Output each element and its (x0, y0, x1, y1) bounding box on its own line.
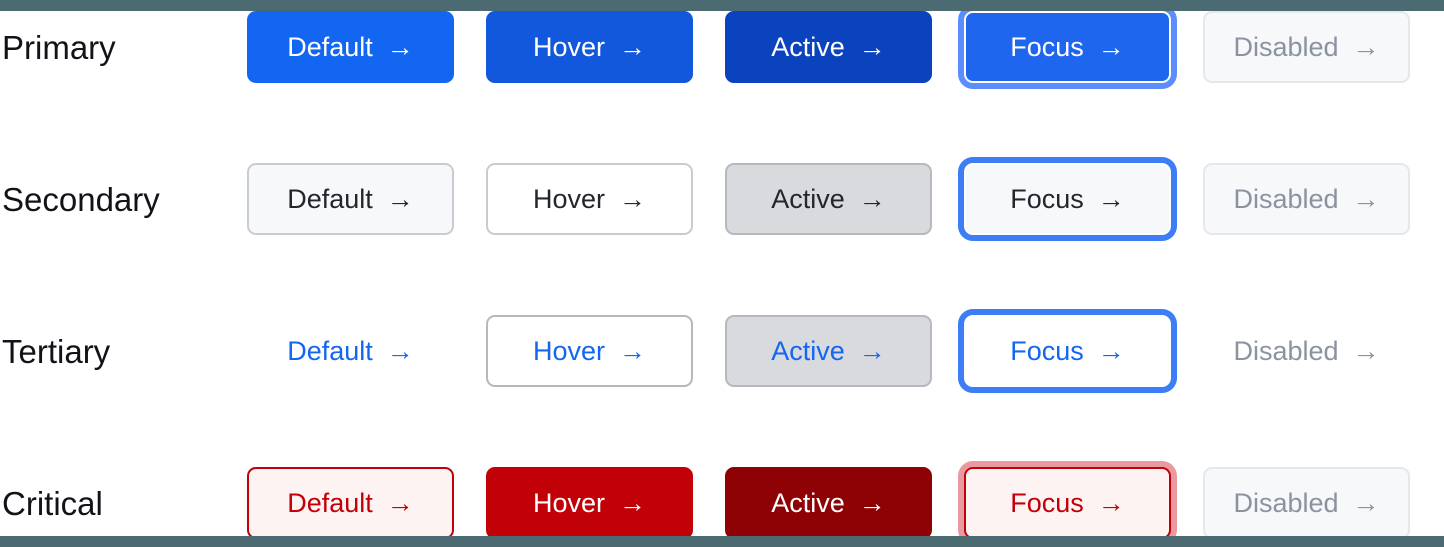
button-label: Default (287, 186, 373, 213)
button-tertiary-default[interactable]: Default → (247, 315, 454, 387)
button-primary-disabled: Disabled → (1203, 11, 1410, 83)
arrow-right-icon: → (859, 490, 886, 517)
button-row-primary: Primary Default → Hover → Active → Focus… (0, 11, 1444, 83)
arrow-right-icon: → (387, 490, 414, 517)
cell-primary-focus: Focus → (964, 11, 1203, 83)
cell-tertiary-disabled: Disabled → (1203, 315, 1442, 387)
button-primary-hover[interactable]: Hover → (486, 11, 693, 83)
cell-critical-focus: Focus → (964, 467, 1203, 539)
row-label-primary: Primary (0, 31, 247, 64)
arrow-right-icon: → (1353, 34, 1380, 61)
cell-critical-disabled: Disabled → (1203, 467, 1442, 539)
cell-critical-active: Active → (725, 467, 964, 539)
cell-tertiary-focus: Focus → (964, 315, 1203, 387)
button-primary-focus[interactable]: Focus → (964, 11, 1171, 83)
cell-critical-default: Default → (247, 467, 486, 539)
button-label: Disabled (1233, 186, 1338, 213)
button-secondary-disabled: Disabled → (1203, 163, 1410, 235)
bottom-edge-bar (0, 536, 1444, 547)
button-label: Focus (1010, 338, 1084, 365)
button-state-matrix: Primary Default → Hover → Active → Focus… (0, 0, 1444, 547)
button-row-secondary: Secondary Default → Hover → Active → Foc… (0, 163, 1444, 235)
button-row-tertiary: Tertiary Default → Hover → Active → Focu… (0, 315, 1444, 387)
button-tertiary-disabled: Disabled → (1203, 315, 1410, 387)
button-label: Hover (533, 338, 605, 365)
button-critical-hover[interactable]: Hover → (486, 467, 693, 539)
row-label-tertiary: Tertiary (0, 335, 247, 368)
arrow-right-icon: → (859, 34, 886, 61)
button-label: Focus (1010, 490, 1084, 517)
arrow-right-icon: → (1353, 490, 1380, 517)
top-edge-bar (0, 0, 1444, 11)
button-label: Disabled (1233, 34, 1338, 61)
arrow-right-icon: → (387, 338, 414, 365)
row-label-critical: Critical (0, 487, 247, 520)
button-label: Default (287, 338, 373, 365)
button-label: Disabled (1233, 490, 1338, 517)
cell-secondary-focus: Focus → (964, 163, 1203, 235)
button-label: Focus (1010, 186, 1084, 213)
cell-primary-hover: Hover → (486, 11, 725, 83)
arrow-right-icon: → (387, 186, 414, 213)
arrow-right-icon: → (859, 338, 886, 365)
button-label: Hover (533, 34, 605, 61)
row-label-secondary: Secondary (0, 183, 247, 216)
arrow-right-icon: → (387, 34, 414, 61)
cell-tertiary-hover: Hover → (486, 315, 725, 387)
cell-tertiary-active: Active → (725, 315, 964, 387)
button-label: Hover (533, 186, 605, 213)
button-critical-default[interactable]: Default → (247, 467, 454, 539)
cell-secondary-default: Default → (247, 163, 486, 235)
button-label: Active (771, 338, 845, 365)
button-label: Disabled (1233, 338, 1338, 365)
button-tertiary-hover[interactable]: Hover → (486, 315, 693, 387)
button-row-critical: Critical Default → Hover → Active → Focu… (0, 467, 1444, 539)
cell-primary-disabled: Disabled → (1203, 11, 1442, 83)
arrow-right-icon: → (1098, 338, 1125, 365)
arrow-right-icon: → (1098, 34, 1125, 61)
button-secondary-default[interactable]: Default → (247, 163, 454, 235)
arrow-right-icon: → (1353, 338, 1380, 365)
arrow-right-icon: → (619, 34, 646, 61)
button-label: Default (287, 490, 373, 517)
button-label: Active (771, 490, 845, 517)
button-label: Hover (533, 490, 605, 517)
arrow-right-icon: → (1098, 490, 1125, 517)
button-secondary-hover[interactable]: Hover → (486, 163, 693, 235)
arrow-right-icon: → (1098, 186, 1125, 213)
cell-primary-default: Default → (247, 11, 486, 83)
button-label: Focus (1010, 34, 1084, 61)
button-tertiary-focus[interactable]: Focus → (964, 315, 1171, 387)
cell-secondary-active: Active → (725, 163, 964, 235)
button-critical-focus[interactable]: Focus → (964, 467, 1171, 539)
cell-primary-active: Active → (725, 11, 964, 83)
arrow-right-icon: → (619, 186, 646, 213)
button-critical-active[interactable]: Active → (725, 467, 932, 539)
arrow-right-icon: → (619, 490, 646, 517)
button-secondary-active[interactable]: Active → (725, 163, 932, 235)
arrow-right-icon: → (859, 186, 886, 213)
button-primary-active[interactable]: Active → (725, 11, 932, 83)
cell-secondary-disabled: Disabled → (1203, 163, 1442, 235)
button-tertiary-active[interactable]: Active → (725, 315, 932, 387)
button-label: Default (287, 34, 373, 61)
button-label: Active (771, 34, 845, 61)
button-primary-default[interactable]: Default → (247, 11, 454, 83)
cell-critical-hover: Hover → (486, 467, 725, 539)
cell-tertiary-default: Default → (247, 315, 486, 387)
button-secondary-focus[interactable]: Focus → (964, 163, 1171, 235)
button-critical-disabled: Disabled → (1203, 467, 1410, 539)
arrow-right-icon: → (1353, 186, 1380, 213)
cell-secondary-hover: Hover → (486, 163, 725, 235)
button-label: Active (771, 186, 845, 213)
arrow-right-icon: → (619, 338, 646, 365)
